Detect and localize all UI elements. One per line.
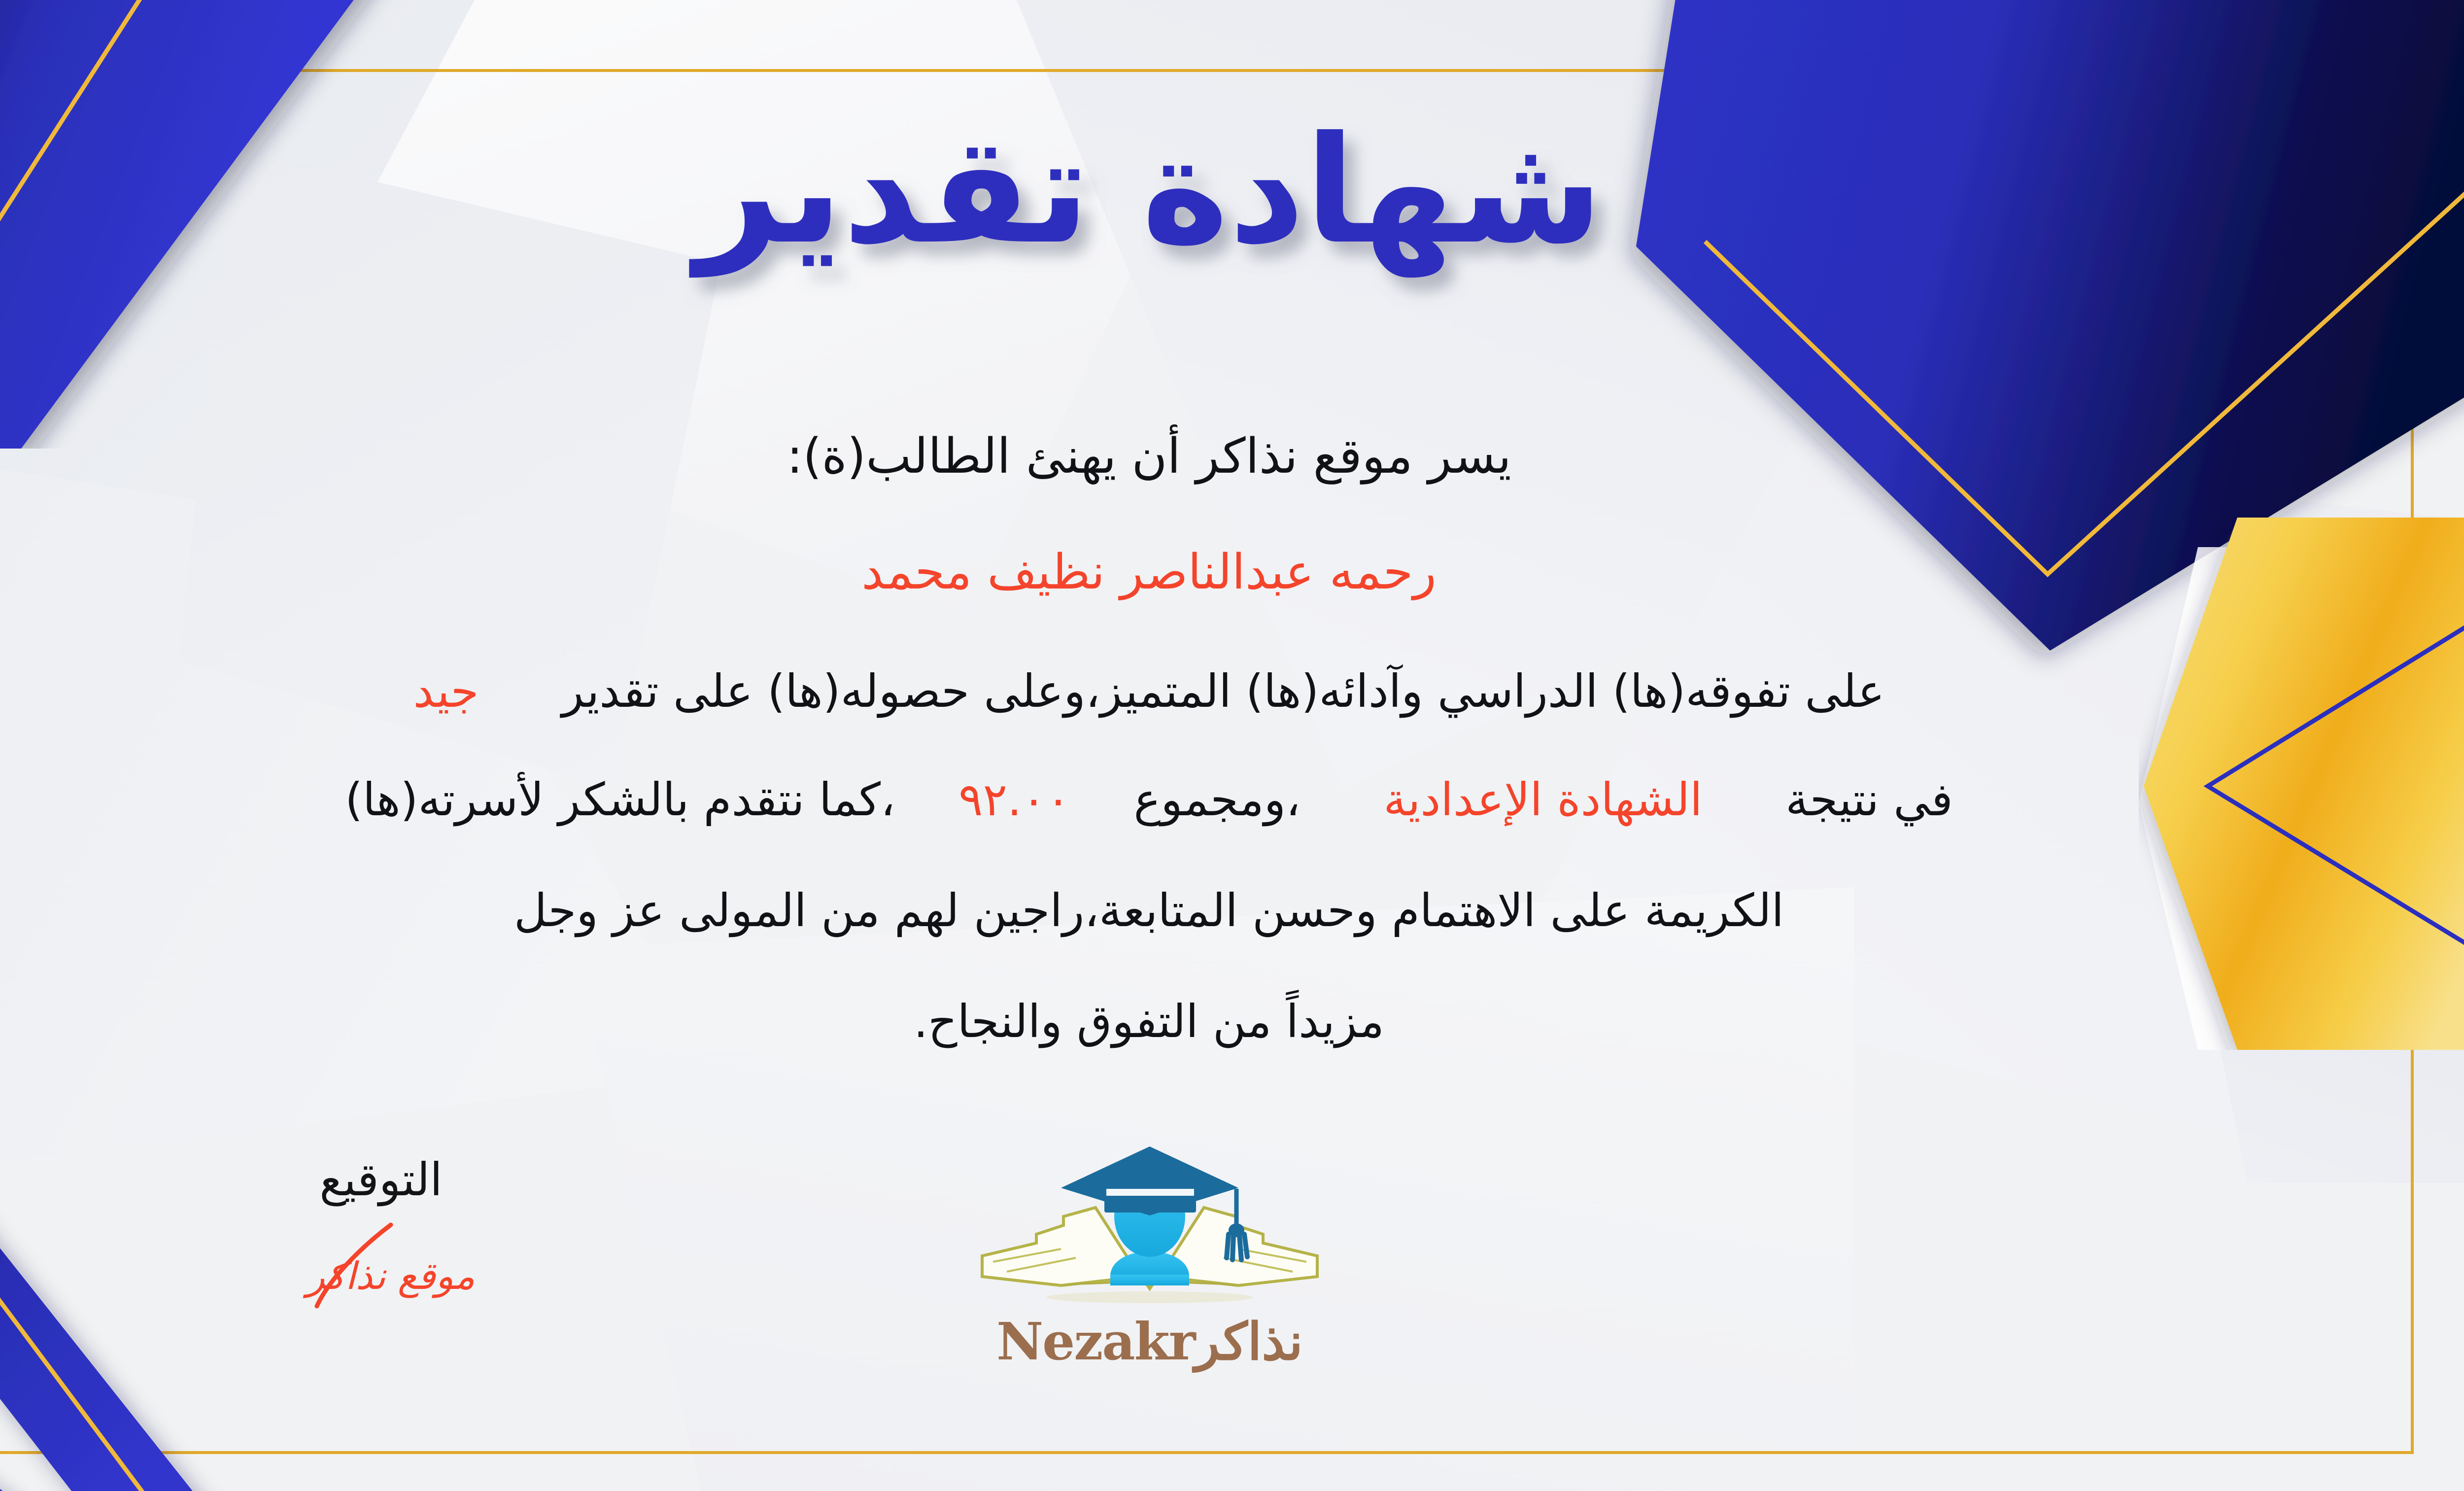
- logo-wordmark-latin: Nezakr: [996, 1311, 1195, 1372]
- result-prefix: في نتيجة: [1785, 773, 1953, 826]
- certificate-name: الشهادة الإعدادية: [1383, 773, 1702, 826]
- logo-wordmark-arabic: نذاكر: [1195, 1311, 1303, 1372]
- logo-graphic: [962, 1129, 1337, 1326]
- achievement-text: على تفوقه(ها) الدراسي وآدائه(ها) المتميز…: [562, 665, 1885, 718]
- signature-script-text: موقع نذاكر: [303, 1254, 475, 1298]
- greeting-line: يسر موقع نذاكر أن يهنئ الطالب(ة):: [0, 431, 2464, 482]
- certificate-canvas: شهادة تقدير يسر موقع نذاكر أن يهنئ الطال…: [0, 0, 2464, 1491]
- gratitude-line: الكريمة على الاهتمام وحسن المتابعة،راجين…: [0, 887, 2464, 935]
- result-mid: ،ومجموع: [1134, 773, 1300, 826]
- signature-label: التوقيع: [208, 1153, 553, 1206]
- total-score: ٩٢.٠٠: [958, 773, 1070, 826]
- logo-wordmark: نذاكرNezakr: [962, 1311, 1337, 1372]
- signature-mark: موقع نذاكر: [208, 1230, 553, 1304]
- student-name: رحمه عبدالناصر نظيف محمد: [0, 547, 2464, 598]
- result-line: في نتيجة الشهادة الإعدادية ،ومجموع ٩٢.٠٠…: [0, 776, 2464, 824]
- certificate-content: شهادة تقدير يسر موقع نذاكر أن يهنئ الطال…: [0, 0, 2464, 1491]
- site-logo: نذاكرNezakr: [962, 1129, 1337, 1405]
- achievement-line: على تفوقه(ها) الدراسي وآدائه(ها) المتميز…: [0, 668, 2464, 716]
- result-suffix: ،كما نتقدم بالشكر لأسرته(ها): [345, 773, 895, 826]
- certificate-title-text: شهادة تقدير: [688, 104, 1603, 278]
- closing-line: مزيداً من التفوق والنجاح.: [0, 998, 2464, 1046]
- grade-value: جيد: [413, 665, 479, 718]
- certificate-title: شهادة تقدير: [0, 74, 2464, 311]
- signature-block: التوقيع موقع نذاكر: [208, 1153, 553, 1304]
